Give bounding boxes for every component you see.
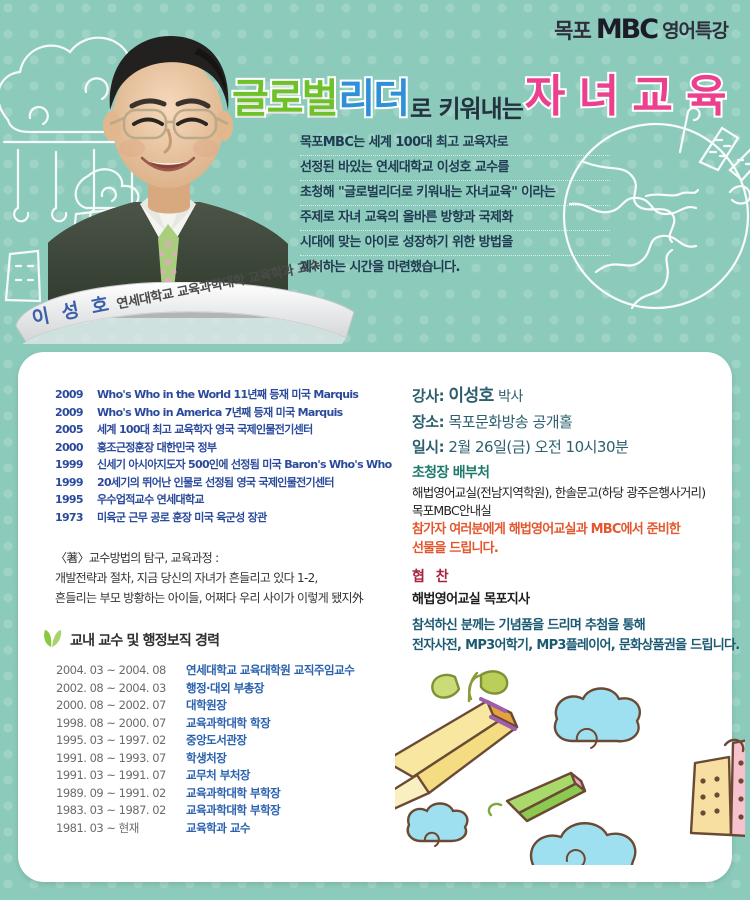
- career-position: 중앙도서관장: [186, 732, 401, 750]
- title-part-leader: 리더: [338, 66, 408, 124]
- venue-label: 장소:: [412, 413, 444, 431]
- invitation-line: 해법영어교실(전남지역학원), 한솔문고(하당 광주은행사거리): [412, 484, 742, 502]
- career-position: 대학원장: [186, 697, 401, 715]
- career-date: 2000. 08 ~ 2002. 07: [56, 697, 186, 715]
- intro-line: 선정된 바있는 연세대학교 이성호 교수를: [300, 156, 610, 181]
- career-date: 1981. 03 ~ 현재: [56, 820, 186, 838]
- award-year: 2009: [55, 386, 97, 404]
- title-part-child-edu: 자 녀 교 육: [525, 60, 726, 124]
- award-text: Who's Who in the World 11년째 등재 미국 Marqui…: [97, 386, 400, 404]
- award-year: 1995: [55, 491, 97, 509]
- poster-root: 목포 MBC 영어특강 글로벌 리더 로 키워내는 자 녀 교 육 목포MBC는…: [0, 0, 750, 900]
- invitation-block: 초청장 배부처 해법영어교실(전남지역학원), 한솔문고(하당 광주은행사거리)…: [412, 462, 742, 558]
- publication-line: 흔들리는 부모 방황하는 아이들, 어쩌다 우리 사이가 이렇게 됐지外: [55, 588, 405, 608]
- award-row: 1995 우수업적교수 연세대학교: [55, 491, 400, 509]
- speaker-name-ribbon: 이 성 호 연세대학교 교육과학대학 교육학과 교수: [10, 282, 360, 344]
- career-position: 교무처 부처장: [186, 767, 401, 785]
- award-row: 1999 20세기의 뛰어난 인물로 선정됨 영국 국제인물전기센터: [55, 474, 400, 492]
- career-row: 1991. 03 ~ 1991. 07 교무처 부처장: [56, 767, 401, 785]
- career-row: 1991. 08 ~ 1993. 07 학생처장: [56, 750, 401, 768]
- award-text: 홍조근정훈장 대한민국 정부: [97, 439, 400, 457]
- award-row: 1999 신세기 아시아지도자 500인에 선정됨 미국 Baron's Who…: [55, 456, 400, 474]
- sponsor-name: 해법영어교실 목포지사: [412, 588, 742, 607]
- intro-line: 시대에 맞는 아이로 성장하기 위한 방법을: [300, 231, 610, 256]
- publications-block: 〈著〉교수방법의 탐구, 교육과정 : 개발전략과 절차, 지금 당신의 자녀가…: [55, 548, 405, 608]
- award-row: 2009 Who's Who in America 7년째 등재 미국 Marq…: [55, 404, 400, 422]
- lecturer-name: 이성호: [448, 386, 493, 406]
- publication-line: 〈著〉교수방법의 탐구, 교육과정 :: [55, 548, 405, 568]
- career-date: 1983. 03 ~ 1987. 02: [56, 802, 186, 820]
- prize-line: 참석하신 분께는 기념품을 드리며 추첨을 통해: [412, 616, 747, 636]
- logo-mbc: MBC: [596, 14, 657, 45]
- event-datetime-row: 일시: 2월 26일(금) 오전 10시30분: [412, 435, 732, 460]
- award-text: 우수업적교수 연세대학교: [97, 491, 400, 509]
- award-year: 1999: [55, 474, 97, 492]
- invitation-line: 목포MBC안내실: [412, 502, 742, 520]
- invitation-title: 초청장 배부처: [412, 462, 742, 482]
- publication-line: 개발전략과 절차, 지금 당신의 자녀가 흔들리고 있다 1-2,: [55, 568, 405, 588]
- award-year: 2005: [55, 421, 97, 439]
- datetime-label: 일시:: [412, 438, 444, 456]
- career-date: 1991. 08 ~ 1993. 07: [56, 750, 186, 768]
- sponsor-title: 협 찬: [412, 566, 742, 586]
- lecturer-title: 박사: [498, 389, 523, 405]
- award-text: 신세기 아시아지도자 500인에 선정됨 미국 Baron's Who's Wh…: [97, 456, 400, 474]
- career-section-title: 교내 교수 및 행정보직 경력: [70, 630, 219, 650]
- leaf-icon: [40, 626, 64, 654]
- intro-line: 목포MBC는 세계 100대 최고 교육자로: [300, 131, 610, 156]
- event-lecturer-row: 강사: 이성호 박사: [412, 384, 732, 410]
- logo-program-label: 영어특강: [662, 16, 728, 43]
- award-text: 세계 100대 최고 교육학자 영국 국제인물전기센터: [97, 421, 400, 439]
- career-date: 1989. 09 ~ 1991. 02: [56, 785, 186, 803]
- event-venue-row: 장소: 목포문화방송 공개홀: [412, 410, 732, 435]
- career-date: 2002. 08 ~ 2004. 03: [56, 680, 186, 698]
- career-position: 행정·대외 부총장: [186, 680, 401, 698]
- career-row: 1995. 03 ~ 1997. 02 중앙도서관장: [56, 732, 401, 750]
- awards-list: 2009 Who's Who in the World 11년째 등재 미국 M…: [55, 386, 400, 526]
- award-row: 2009 Who's Who in the World 11년째 등재 미국 M…: [55, 386, 400, 404]
- career-position: 교육과학대학 학장: [186, 715, 401, 733]
- page-title: 글로벌 리더 로 키워내는 자 녀 교 육: [232, 60, 742, 126]
- award-year: 1973: [55, 509, 97, 527]
- career-position: 학생처장: [186, 750, 401, 768]
- title-part-connector: 로 키워내는: [410, 89, 523, 124]
- career-date: 2004. 03 ~ 2004. 08: [56, 662, 186, 680]
- datetime-value: 2월 26일(금) 오전 10시30분: [448, 438, 628, 456]
- career-list: 2004. 03 ~ 2004. 08 연세대학교 교육대학원 교직주임교수 2…: [56, 662, 401, 837]
- career-date: 1998. 08 ~ 2000. 07: [56, 715, 186, 733]
- career-position: 교육과학대학 부학장: [186, 802, 401, 820]
- award-row: 2005 세계 100대 최고 교육학자 영국 국제인물전기센터: [55, 421, 400, 439]
- award-text: 20세기의 뛰어난 인물로 선정됨 영국 국제인물전기센터: [97, 474, 400, 492]
- award-row: 1973 미육군 근무 공로 훈장 미국 육군성 장관: [55, 509, 400, 527]
- career-position: 교육학과 교수: [186, 820, 401, 838]
- award-row: 2000 홍조근정훈장 대한민국 정부: [55, 439, 400, 457]
- career-row: 2000. 08 ~ 2002. 07 대학원장: [56, 697, 401, 715]
- award-year: 1999: [55, 456, 97, 474]
- career-position: 교육과학대학 부학장: [186, 785, 401, 803]
- career-row: 1998. 08 ~ 2000. 07 교육과학대학 학장: [56, 715, 401, 733]
- career-section-heading: 교내 교수 및 행정보직 경력: [40, 626, 219, 654]
- invitation-highlight: 참가자 여러분에게 해법영어교실과 MBC에서 준비한: [412, 520, 742, 539]
- title-part-global: 글로벌: [232, 66, 336, 124]
- prize-line: 전자사전, MP3어학기, MP3플레이어, 문화상품권을 드립니다.: [412, 636, 747, 656]
- career-row: 2002. 08 ~ 2004. 03 행정·대외 부총장: [56, 680, 401, 698]
- career-row: 1981. 03 ~ 현재 교육학과 교수: [56, 820, 401, 838]
- career-row: 1989. 09 ~ 1991. 02 교육과학대학 부학장: [56, 785, 401, 803]
- career-position: 연세대학교 교육대학원 교직주임교수: [186, 662, 401, 680]
- logo-station-kr: 목포: [554, 15, 591, 45]
- career-date: 1991. 03 ~ 1991. 07: [56, 767, 186, 785]
- career-row: 2004. 03 ~ 2004. 08 연세대학교 교육대학원 교직주임교수: [56, 662, 401, 680]
- event-details: 강사: 이성호 박사 장소: 목포문화방송 공개홀 일시: 2월 26일(금) …: [412, 384, 732, 460]
- award-year: 2000: [55, 439, 97, 457]
- career-row: 1983. 03 ~ 1987. 02 교육과학대학 부학장: [56, 802, 401, 820]
- mbc-logo: 목포 MBC 영어특강: [554, 14, 728, 45]
- career-date: 1995. 03 ~ 1997. 02: [56, 732, 186, 750]
- prize-block: 참석하신 분께는 기념품을 드리며 추첨을 통해 전자사전, MP3어학기, M…: [412, 616, 747, 656]
- award-year: 2009: [55, 404, 97, 422]
- sponsor-block: 협 찬 해법영어교실 목포지사: [412, 566, 742, 607]
- award-text: 미육군 근무 공로 훈장 미국 육군성 장관: [97, 509, 400, 527]
- award-text: Who's Who in America 7년째 등재 미국 Marquis: [97, 404, 400, 422]
- paper-plane-illustration: [395, 665, 745, 865]
- intro-line: 초청해 "글로벌리더로 키워내는 자녀교육" 이라는: [300, 181, 610, 206]
- invitation-highlight: 선물을 드립니다.: [412, 539, 742, 558]
- venue-value: 목포문화방송 공개홀: [448, 413, 572, 431]
- intro-line: 주제로 자녀 교육의 올바른 방향과 국제화: [300, 206, 610, 231]
- lecturer-label: 강사:: [412, 387, 444, 405]
